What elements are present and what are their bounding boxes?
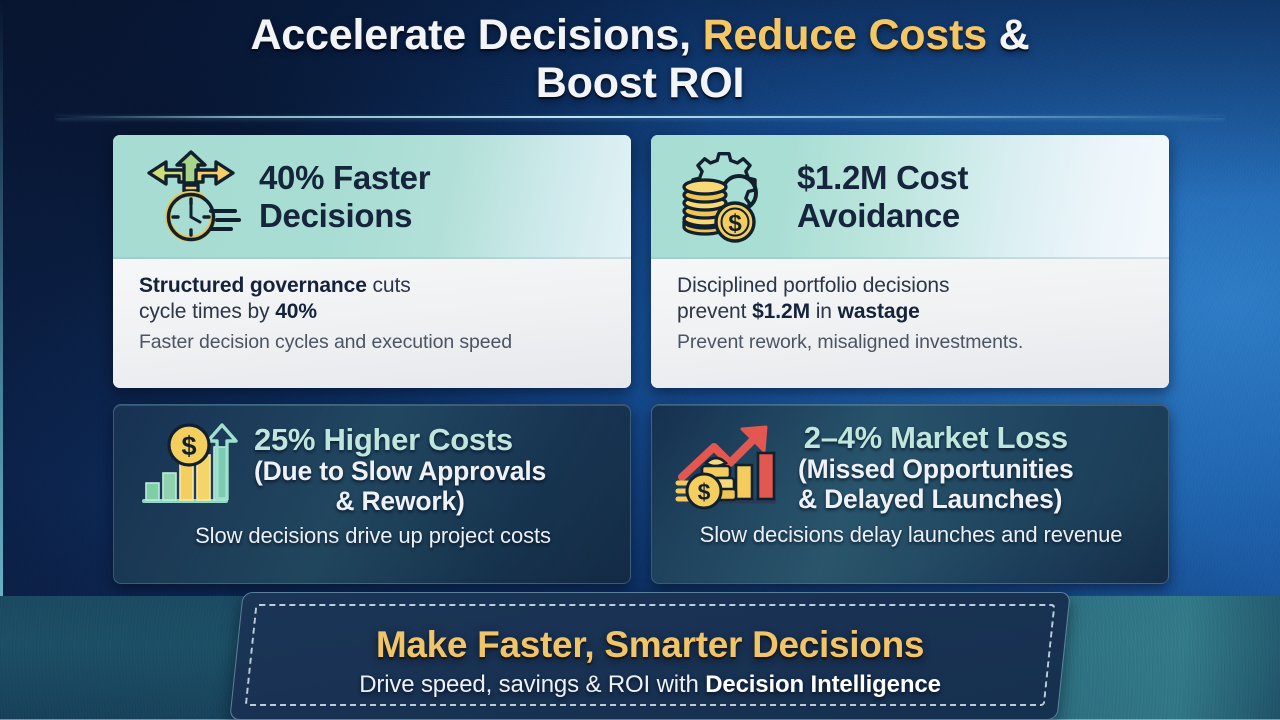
cards-row-top: 40% Faster Decisions Structured governan… [113,135,1169,388]
slide-title-block: Accelerate Decisions, Reduce Costs & Boo… [0,12,1280,107]
banner-title: Make Faster, Smarter Decisions [376,624,924,666]
clock-arrows-icon [139,149,243,245]
card-headline-line-1: 40% Faster [259,159,430,197]
gear-coins-icon: $ [677,149,781,245]
card-text-column: 2–4% Market Loss (Missed Opportunities &… [798,421,1074,514]
card-headline: $1.2M Cost Avoidance [797,159,968,236]
card-headline: 40% Faster Decisions [259,159,430,236]
card-body-bold-2: 40% [275,300,317,323]
title-part-3: & [987,11,1030,59]
card-headline: 2–4% Market Loss [798,421,1074,455]
title-part-1: Accelerate Decisions, [250,11,702,59]
title-highlight: Reduce Costs [703,11,987,59]
card-body-line-2: cycle times by 40% [139,299,609,325]
card-headline-line-2: Avoidance [797,197,968,235]
cards-grid: 40% Faster Decisions Structured governan… [113,135,1169,584]
card-footer-text: Slow decisions drive up project costs [136,523,610,549]
card-body-line-2: prevent $1.2M in wastage [677,299,1147,325]
card-header: 40% Faster Decisions [113,135,631,259]
card-body-bold-1: Structured governance [139,274,367,297]
banner-content: Make Faster, Smarter Decisions Drive spe… [237,593,1063,719]
banner-subtitle-text: Drive speed, savings & ROI with [359,671,705,698]
card-market-loss[interactable]: $ 2–4% Market Loss (Missed Opportunities… [651,404,1169,584]
card-top-row: $ 2–4% Market Loss (Missed Opportunities… [674,421,1148,515]
card-cost-avoidance[interactable]: $ $1.2M Cost Avoidance Disciplined portf… [651,135,1169,388]
card-headline-line-1: $1.2M Cost [797,159,968,197]
card-higher-costs[interactable]: $ 25% Higher Costs (Due to Slow Approval… [113,404,631,584]
card-top-row: $ 25% Higher Costs (Due to Slow Approval… [136,421,610,516]
card-footer-text: Slow decisions delay launches and revenu… [674,522,1148,548]
card-headline-line-2: Decisions [259,197,430,235]
card-body-text-2: in [810,300,838,323]
bottom-banner[interactable]: Make Faster, Smarter Decisions Drive spe… [229,592,1070,720]
banner-subtitle-bold: Decision Intelligence [705,671,941,698]
svg-text:$: $ [181,431,196,461]
card-subheadline-line-2: & Delayed Launches) [798,485,1074,515]
card-body-line-1: Disciplined portfolio decisions [677,273,1147,299]
card-body-bold-2: wastage [838,300,920,323]
card-body: Disciplined portfolio decisions prevent … [651,259,1169,388]
card-subheadline: (Missed Opportunities & Delayed Launches… [798,455,1074,514]
title-divider [56,116,1224,118]
slide-title: Accelerate Decisions, Reduce Costs & Boo… [0,12,1280,107]
card-subheadline-line-1: (Due to Slow Approvals [254,457,546,487]
card-body: Structured governance cuts cycle times b… [113,259,631,388]
card-text-column: 25% Higher Costs (Due to Slow Approvals … [254,423,546,516]
card-subtext: Prevent rework, misaligned investments. [677,331,1147,354]
red-trend-money-icon: $ [674,421,786,515]
svg-text:$: $ [728,210,742,237]
card-body-text: Structured governance cuts cycle times b… [139,273,609,326]
banner-subtitle: Drive speed, savings & ROI with Decision… [359,671,941,699]
svg-text:$: $ [698,479,711,505]
card-body-text-1: cuts [367,274,411,297]
card-body-text-2: cycle times by [139,300,275,323]
card-body-text-1: prevent [677,300,752,323]
cards-row-bottom: $ 25% Higher Costs (Due to Slow Approval… [113,404,1169,584]
card-faster-decisions[interactable]: 40% Faster Decisions Structured governan… [113,135,631,388]
slide-canvas: Accelerate Decisions, Reduce Costs & Boo… [0,0,1280,720]
title-line-2: Boost ROI [0,60,1280,108]
card-body-bold-1: $1.2M [752,300,810,323]
card-subheadline: (Due to Slow Approvals & Rework) [254,457,546,516]
card-subheadline-line-1: (Missed Opportunities [798,455,1074,485]
card-body-text: Disciplined portfolio decisions prevent … [677,273,1147,326]
bar-chart-coin-arrow-icon: $ [136,421,242,515]
card-subheadline-line-2: & Rework) [254,487,546,517]
card-headline: 25% Higher Costs [254,423,546,457]
card-subtext: Faster decision cycles and execution spe… [139,331,609,354]
card-header: $ $1.2M Cost Avoidance [651,135,1169,259]
